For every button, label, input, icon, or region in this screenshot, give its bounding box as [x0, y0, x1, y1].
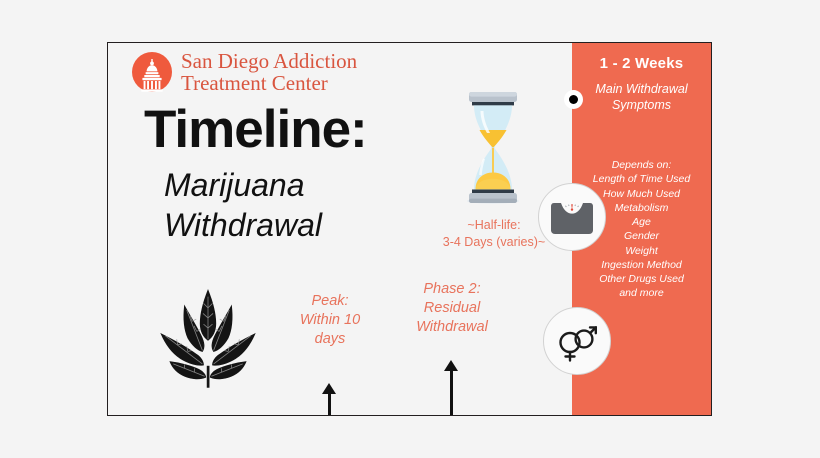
hourglass-icon	[458, 87, 528, 213]
list-item: Ingestion Method	[574, 258, 709, 272]
list-item: Length of Time Used	[574, 172, 709, 186]
list-item: and more	[574, 286, 709, 300]
panel-subheading-line-2: Symptoms	[612, 98, 671, 112]
depends-on-title: Depends on:	[574, 158, 709, 172]
brand-name-line-2: Treatment Center	[181, 72, 357, 94]
callout-peak-line-1: Peak:	[275, 292, 385, 311]
bathroom-scale-icon	[538, 183, 606, 251]
callout-peak: Peak: Within 10 days	[275, 292, 385, 349]
callout-peak-line-2: Within 10	[275, 311, 385, 330]
page-subtitle-line-1: Marijuana	[164, 165, 464, 205]
gender-symbols-icon	[543, 307, 611, 375]
list-item: Other Drugs Used	[574, 272, 709, 286]
arrow-up-peak	[322, 383, 336, 416]
callout-phase2: Phase 2: Residual Withdrawal	[391, 280, 513, 337]
arrow-up-phase2	[444, 360, 458, 416]
panel-subheading-line-1: Main Withdrawal	[595, 82, 687, 96]
cannabis-leaf-icon	[152, 281, 264, 393]
brand-logo: San Diego Addiction Treatment Center	[132, 50, 357, 94]
capitol-building-icon	[132, 52, 172, 92]
page-subtitle-line-2: Withdrawal	[164, 205, 464, 245]
brand-wordmark: San Diego Addiction Treatment Center	[181, 50, 357, 94]
list-item: Weight	[574, 244, 709, 258]
page-subtitle: Marijuana Withdrawal	[164, 165, 464, 245]
arrow-shaft	[328, 391, 331, 416]
timeline-dot-marker	[564, 90, 583, 109]
callout-peak-line-3: days	[275, 330, 385, 349]
callout-phase2-line-1: Phase 2:	[391, 280, 513, 299]
arrow-shaft	[450, 368, 453, 416]
panel-subheading: Main Withdrawal Symptoms	[578, 81, 705, 113]
brand-name-line-1: San Diego Addiction	[181, 50, 357, 72]
panel-heading: 1 - 2 Weeks	[572, 55, 711, 72]
halflife-line-2: 3-4 Days (varies)~	[426, 234, 562, 251]
callout-phase2-line-2: Residual	[391, 299, 513, 318]
page-title: Timeline:	[144, 103, 367, 156]
infographic-frame: 1 - 2 Weeks Main Withdrawal Symptoms Dep…	[107, 42, 712, 416]
callout-phase2-line-3: Withdrawal	[391, 318, 513, 337]
